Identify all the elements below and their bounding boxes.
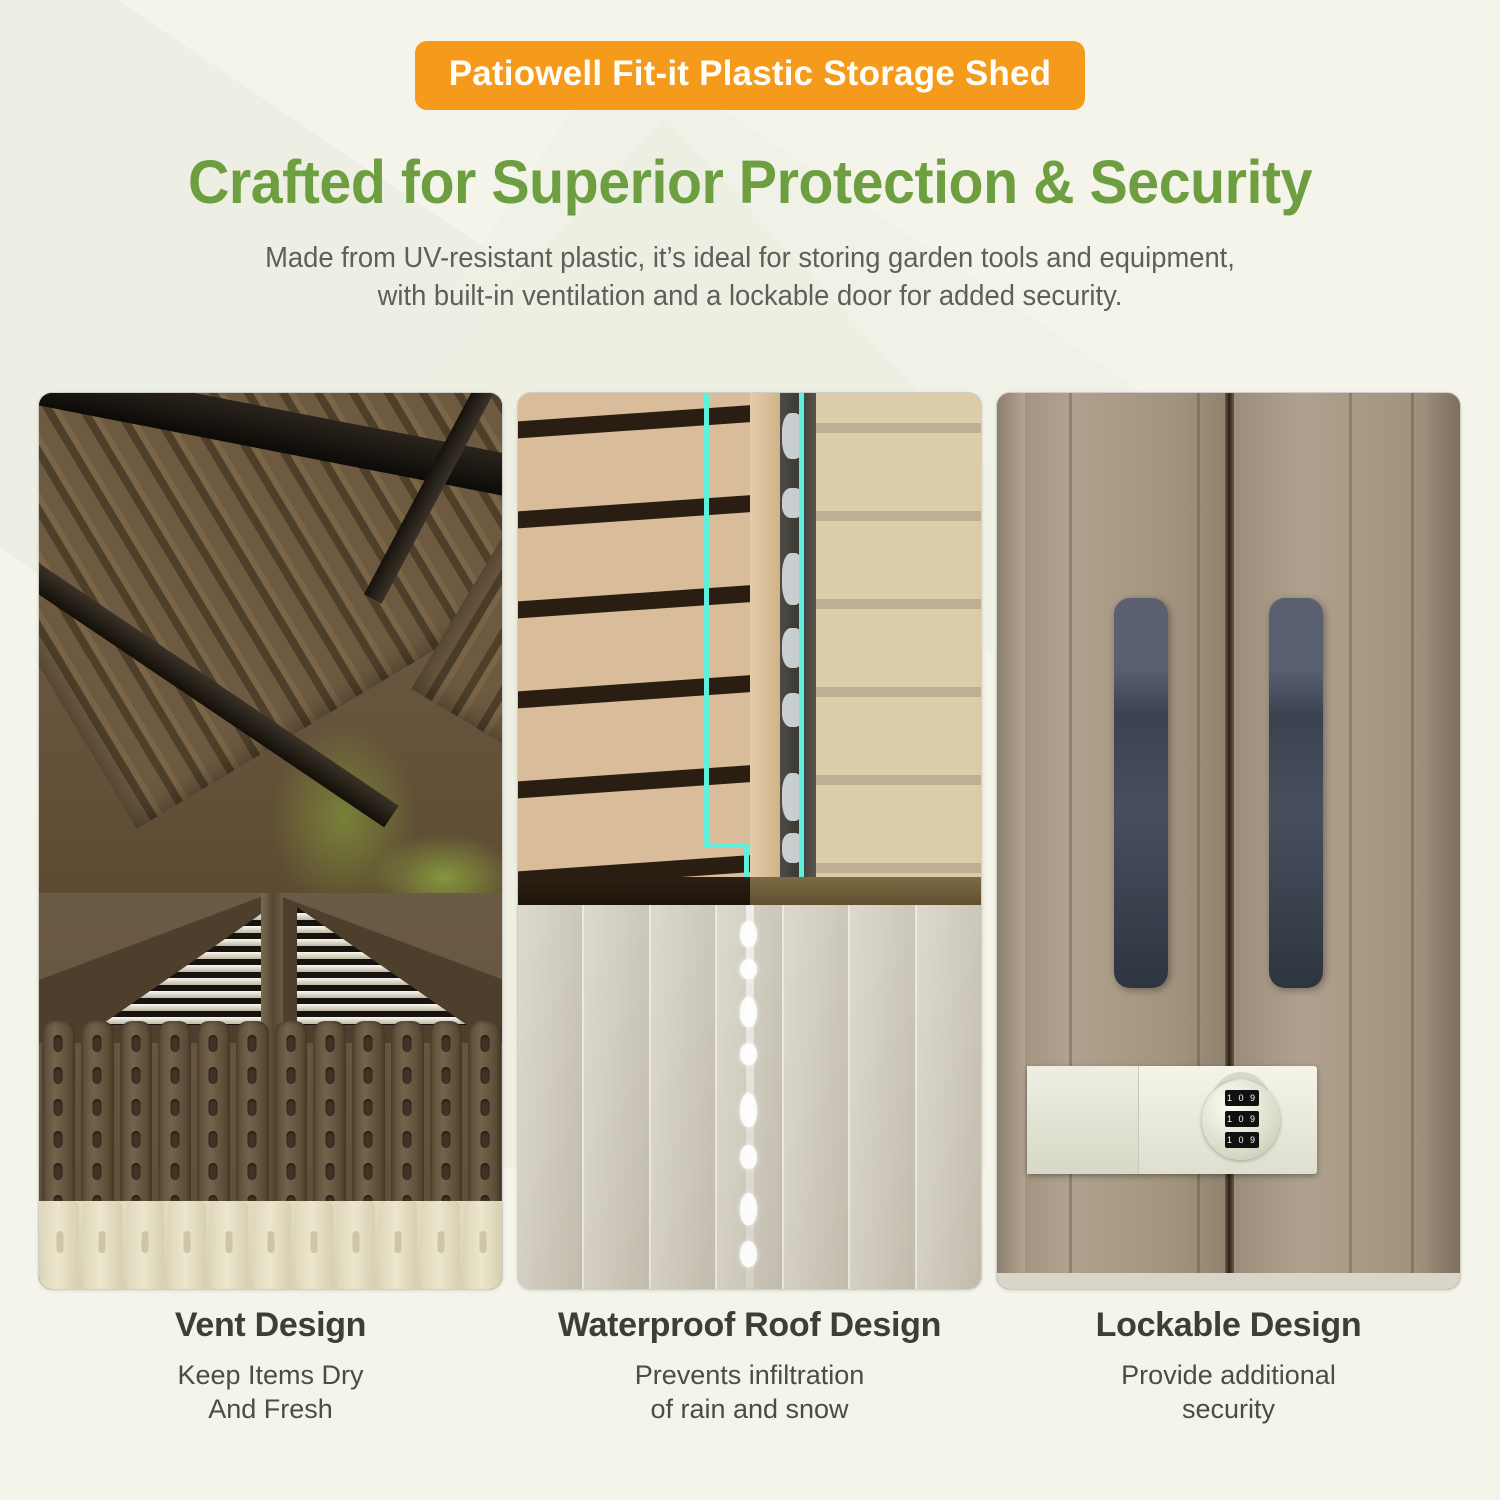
caption-desc-line-2: And Fresh: [38, 1392, 503, 1426]
product-name-badge: Patiowell Fit-it Plastic Storage Shed: [415, 41, 1086, 110]
caption-lockable-design: Lockable Design Provide additional secur…: [996, 1306, 1461, 1426]
door-frame-right: [1426, 393, 1460, 1290]
photo-haze-overlay: [816, 393, 982, 893]
wall-board: [784, 905, 850, 1290]
base-slat: [41, 1201, 79, 1289]
caption-waterproof-roof-design: Waterproof Roof Design Prevents infiltra…: [517, 1306, 982, 1426]
water-droplet: [740, 1093, 757, 1127]
base-slat: [295, 1201, 333, 1289]
subtitle-line-1: Made from UV-resistant plastic, it’s ide…: [30, 239, 1470, 277]
caption-desc: Keep Items Dry And Fresh: [38, 1358, 503, 1426]
page-subtitle: Made from UV-resistant plastic, it’s ide…: [30, 239, 1470, 315]
feature-image-vent-design: [38, 392, 503, 1290]
base-slat: [337, 1201, 375, 1289]
shingle-row: [518, 494, 768, 529]
roof-eave-right: [750, 877, 982, 907]
base-slat: [83, 1201, 121, 1289]
base-slat: [464, 1201, 502, 1289]
water-droplet: [740, 1145, 757, 1169]
shingle-row: [518, 764, 768, 799]
feature-image-row: 1 0 9 1 0 9 1 0 9: [38, 392, 1462, 1290]
hasp-left-leaf: [1027, 1066, 1139, 1174]
base-slat: [252, 1201, 290, 1289]
wall-board: [518, 905, 584, 1290]
base-slat: [168, 1201, 206, 1289]
feature-caption-row: Vent Design Keep Items Dry And Fresh Wat…: [38, 1306, 1462, 1426]
metal-flashing-channel: [780, 393, 816, 893]
caption-desc-line-1: Keep Items Dry: [38, 1358, 503, 1392]
caption-desc: Provide additional security: [996, 1358, 1461, 1426]
wall-board: [917, 905, 982, 1290]
product-badge-row: Patiowell Fit-it Plastic Storage Shed: [0, 0, 1500, 110]
door-frame-left: [997, 393, 1025, 1290]
water-droplet: [740, 997, 757, 1027]
roof-interior-illustration: [39, 393, 503, 933]
ground-line: [997, 1273, 1461, 1289]
base-slat: [379, 1201, 417, 1289]
shingle-row: [518, 674, 768, 709]
page-title: Crafted for Superior Protection & Securi…: [45, 147, 1455, 217]
feature-image-lockable-design: 1 0 9 1 0 9 1 0 9: [996, 392, 1461, 1290]
shingle-surface-left: [518, 393, 750, 893]
base-slat: [210, 1201, 248, 1289]
caption-desc-line-2: security: [996, 1392, 1461, 1426]
water-droplet: [740, 1193, 757, 1225]
roof-edge-closeup: [518, 393, 982, 893]
highlight-outline-segment-2: [799, 393, 804, 838]
shingle-row: [518, 584, 768, 619]
water-droplet: [740, 1241, 757, 1267]
base-slat: [126, 1201, 164, 1289]
door-groove-4: [1411, 393, 1414, 1290]
water-droplet: [740, 959, 757, 979]
caption-desc-line-2: of rain and snow: [517, 1392, 982, 1426]
vent-slat: [297, 926, 467, 933]
highlight-outline-segment-3: [704, 843, 749, 848]
subtitle-line-2: with built-in ventilation and a lockable…: [30, 277, 1470, 315]
shingle-row: [518, 404, 768, 439]
padlock-dial-3: 1 0 9: [1225, 1132, 1259, 1148]
door-handle-left: [1114, 598, 1168, 988]
padlock-dials: 1 0 9 1 0 9 1 0 9: [1225, 1090, 1259, 1148]
door-groove-3: [1349, 393, 1352, 1290]
infographic-page: Patiowell Fit-it Plastic Storage Shed Cr…: [0, 0, 1500, 1500]
caption-desc-line-1: Provide additional: [996, 1358, 1461, 1392]
lock-hasp-plate: 1 0 9 1 0 9 1 0 9: [1027, 1066, 1317, 1174]
highlight-outline-segment-1: [704, 393, 709, 848]
padlock-dial-2: 1 0 9: [1225, 1111, 1259, 1127]
caption-desc: Prevents infiltration of rain and snow: [517, 1358, 982, 1426]
wall-board: [584, 905, 650, 1290]
caption-title: Vent Design: [38, 1306, 503, 1345]
door-handle-right: [1269, 598, 1323, 988]
water-droplet: [740, 1043, 757, 1065]
caption-vent-design: Vent Design Keep Items Dry And Fresh: [38, 1306, 503, 1426]
caption-title: Waterproof Roof Design: [517, 1306, 982, 1345]
caption-desc-line-1: Prevents infiltration: [517, 1358, 982, 1392]
caption-title: Lockable Design: [996, 1306, 1461, 1345]
wall-board: [651, 905, 717, 1290]
padlock-dial-1: 1 0 9: [1225, 1090, 1259, 1106]
water-droplet: [740, 921, 757, 947]
wall-base-trim: [39, 1201, 503, 1289]
base-slat: [421, 1201, 459, 1289]
wall-board: [850, 905, 916, 1290]
feature-image-waterproof-roof: [517, 392, 982, 1290]
